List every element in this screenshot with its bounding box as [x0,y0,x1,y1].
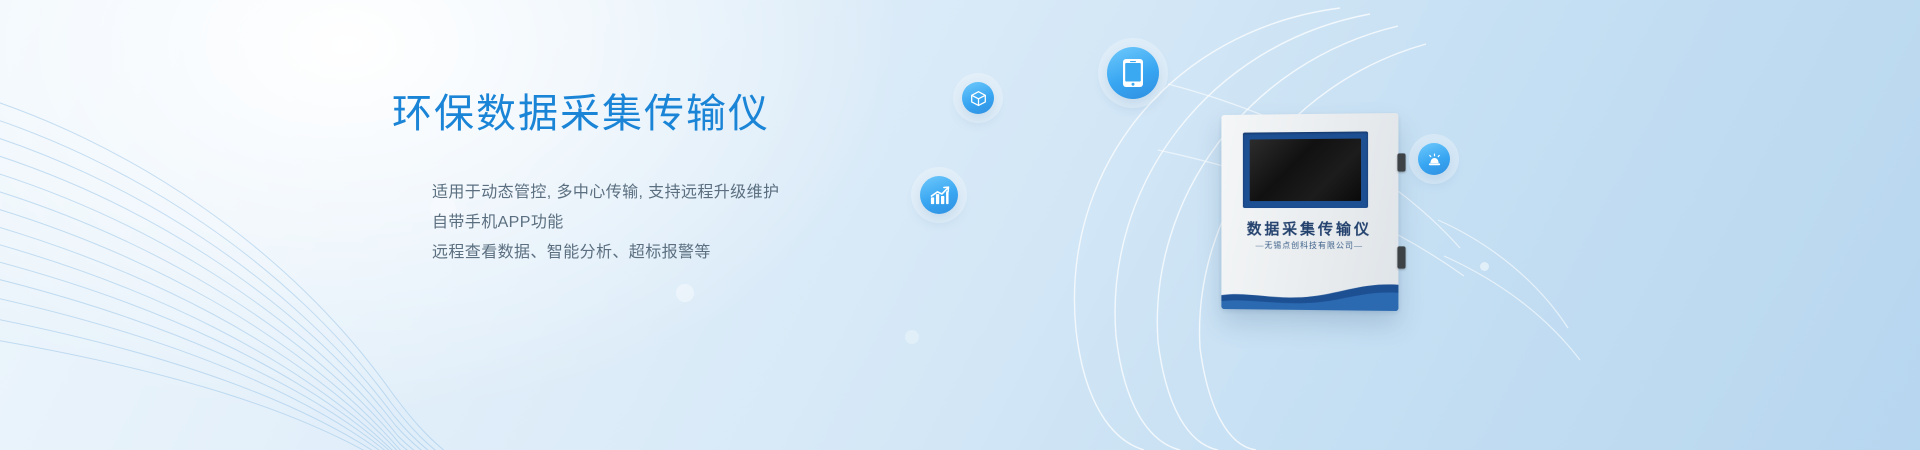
banner-subtitle-line-2: 自带手机APP功能 [432,208,912,238]
decorative-bubble [676,284,694,302]
device-brand-label: 数据采集传输仪 [1221,218,1398,239]
banner-subtitle-line-1: 适用于动态管控, 多中心传输, 支持远程升级维护 [432,178,912,208]
banner-subtitle-list: 适用于动态管控, 多中心传输, 支持远程升级维护 自带手机APP功能 远程查看数… [392,178,912,268]
device-side-knob [1397,153,1405,171]
device-side-port [1397,246,1405,268]
device-base-band [1221,277,1398,311]
alarm-icon[interactable] [1418,143,1450,175]
product-scene: 数据采集传输仪 —无锡点创科技有限公司— [1040,0,1680,450]
phone-icon[interactable] [1107,47,1159,99]
banner-title: 环保数据采集传输仪 [392,94,912,134]
device-company-label: —无锡点创科技有限公司— [1221,240,1398,252]
chart-icon[interactable] [920,176,958,214]
data-acquisition-device: 数据采集传输仪 —无锡点创科技有限公司— [1221,113,1398,311]
device-screen-frame [1243,131,1368,208]
product-banner: 环保数据采集传输仪 适用于动态管控, 多中心传输, 支持远程升级维护 自带手机A… [0,0,1920,450]
banner-copy: 环保数据采集传输仪 适用于动态管控, 多中心传输, 支持远程升级维护 自带手机A… [392,94,912,268]
banner-subtitle-line-3: 远程查看数据、智能分析、超标报警等 [432,238,912,268]
box-icon[interactable] [962,82,994,114]
device-screen [1250,139,1361,202]
decorative-bubble [905,330,919,344]
